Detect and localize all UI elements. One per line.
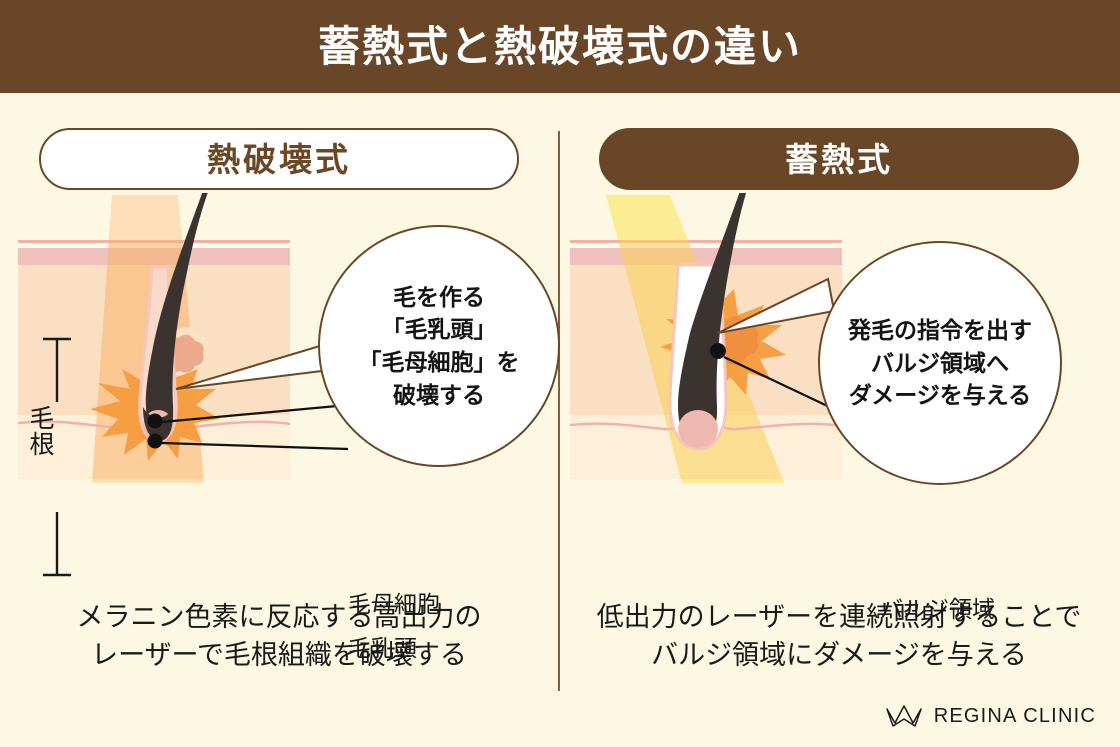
marker-dot-papilla <box>148 434 163 449</box>
panel-header-pill-right: 蓄熱式 <box>599 128 1079 190</box>
panel-heat-accumulation: 蓄熱式 <box>560 93 1118 693</box>
bubble-right-line-3: ダメージを与える <box>848 379 1032 412</box>
caption-right-line-1: 低出力のレーザーを連続照射することで <box>569 598 1109 636</box>
caption-left-line-1: メラニン色素に反応する高出力の <box>9 598 549 636</box>
bubble-left-line-1: 毛を作る <box>359 281 520 314</box>
bubble-right-line-2: バルジ領域へ <box>848 347 1032 380</box>
marker-dot-matrix <box>148 414 163 429</box>
callout-bubble-left-text: 毛を作る 「毛乳頭」 「毛母細胞」を 破壊する <box>359 281 520 412</box>
bubble-left-line-3: 「毛母細胞」を <box>359 346 520 379</box>
skin-surface-line-right <box>570 240 842 243</box>
caption-right-line-2: バルジ領域にダメージを与える <box>569 636 1109 674</box>
callout-bubble-left: 毛を作る 「毛乳頭」 「毛母細胞」を 破壊する <box>318 225 560 467</box>
callout-bubble-right: 発毛の指令を出す バルジ領域へ ダメージを与える <box>818 241 1062 485</box>
caption-left-line-2: レーザーで毛根組織を破壊する <box>9 636 549 674</box>
header-bar: 蓄熱式と熱破壊式の違い <box>0 0 1120 93</box>
page-title: 蓄熱式と熱破壊式の違い <box>318 26 802 68</box>
root-depth-bracket-left <box>40 336 74 578</box>
infographic-root: 蓄熱式と熱破壊式の違い 熱破壊式 <box>0 0 1120 747</box>
brand-logo-text: REGINA CLINIC <box>934 706 1096 726</box>
papilla-bulb-right <box>678 410 718 448</box>
bubble-left-line-4: 破壊する <box>359 379 520 412</box>
bubble-right-line-1: 発毛の指令を出す <box>848 314 1032 347</box>
panel-header-pill-left: 熱破壊式 <box>39 128 519 190</box>
callout-bubble-right-text: 発毛の指令を出す バルジ領域へ ダメージを与える <box>848 314 1032 412</box>
marker-dot-bulge <box>710 343 726 359</box>
crown-icon <box>885 703 923 729</box>
caption-right: 低出力のレーザーを連続照射することで バルジ領域にダメージを与える <box>569 598 1109 675</box>
epidermis-right <box>570 248 842 265</box>
skin-gap-right <box>570 243 842 248</box>
brand-logo: REGINA CLINIC <box>885 703 1096 729</box>
panel-title-right: 蓄熱式 <box>785 143 893 176</box>
caption-left: メラニン色素に反応する高出力の レーザーで毛根組織を破壊する <box>9 598 549 675</box>
bracket-label-left: 毛根 <box>26 405 53 457</box>
bubble-left-line-2: 「毛乳頭」 <box>359 313 520 346</box>
panel-title-left: 熱破壊式 <box>207 143 351 176</box>
panel-thermal-destruction: 熱破壊式 <box>0 93 558 693</box>
